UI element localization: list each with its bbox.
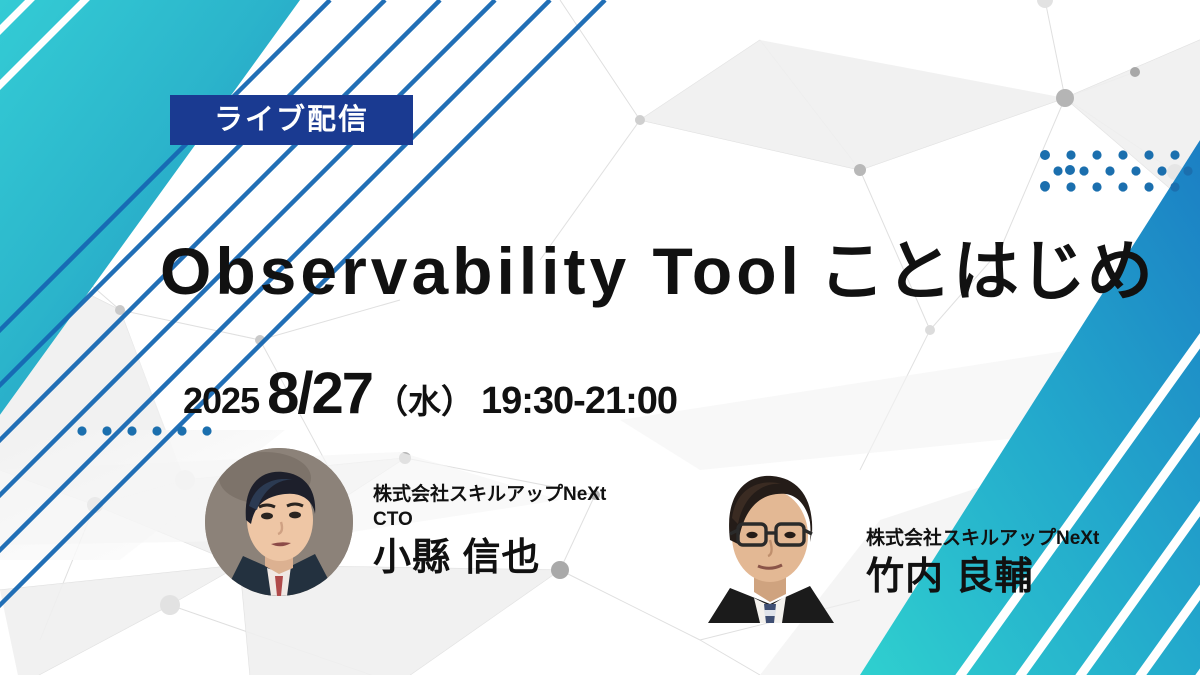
page-title: Observability Tool ことはじめ xyxy=(160,226,1180,316)
speaker-2-avatar xyxy=(690,448,850,623)
live-badge: ライブ配信 xyxy=(170,95,413,145)
speaker-1-avatar xyxy=(205,448,353,596)
event-time: 19:30-21:00 xyxy=(481,380,677,423)
title-japanese: ことはじめ xyxy=(819,238,1154,304)
speaker-2-text: 株式会社スキルアップNeXt 竹内 良輔 xyxy=(866,527,1099,623)
dot-row-left xyxy=(77,426,211,435)
speaker-1-portrait xyxy=(205,448,353,596)
event-day: 8/27 xyxy=(267,360,372,427)
title-english: Observability Tool xyxy=(160,238,803,304)
speaker-card-2: 株式会社スキルアップNeXt 竹内 良輔 xyxy=(690,448,1099,623)
speaker-2-portrait xyxy=(690,448,850,623)
speaker-1-text: 株式会社スキルアップNeXt CTO 小縣 信也 xyxy=(373,483,606,596)
event-day-of-week: （水） xyxy=(375,375,474,423)
event-datetime: 2025 8/27 （水） 19:30-21:00 xyxy=(183,360,677,422)
speaker-1-photo-wrap xyxy=(205,448,353,596)
dot-grid-top-right xyxy=(1040,150,1075,191)
speaker-1-role: CTO xyxy=(373,508,606,533)
webinar-banner: ライブ配信 Observability Tool ことはじめ 2025 8/27… xyxy=(0,0,1200,675)
live-badge-label: ライブ配信 xyxy=(214,106,369,135)
speaker-card-1: 株式会社スキルアップNeXt CTO 小縣 信也 xyxy=(205,448,606,596)
dot-grid-cells xyxy=(1040,150,1192,191)
speaker-2-company: 株式会社スキルアップNeXt xyxy=(866,527,1099,552)
speaker-1-company: 株式会社スキルアップNeXt xyxy=(373,483,606,508)
speaker-1-name: 小縣 信也 xyxy=(373,535,606,583)
speaker-2-photo-wrap xyxy=(690,448,850,623)
speaker-2-name: 竹内 良輔 xyxy=(866,554,1099,602)
event-year: 2025 xyxy=(183,380,259,422)
